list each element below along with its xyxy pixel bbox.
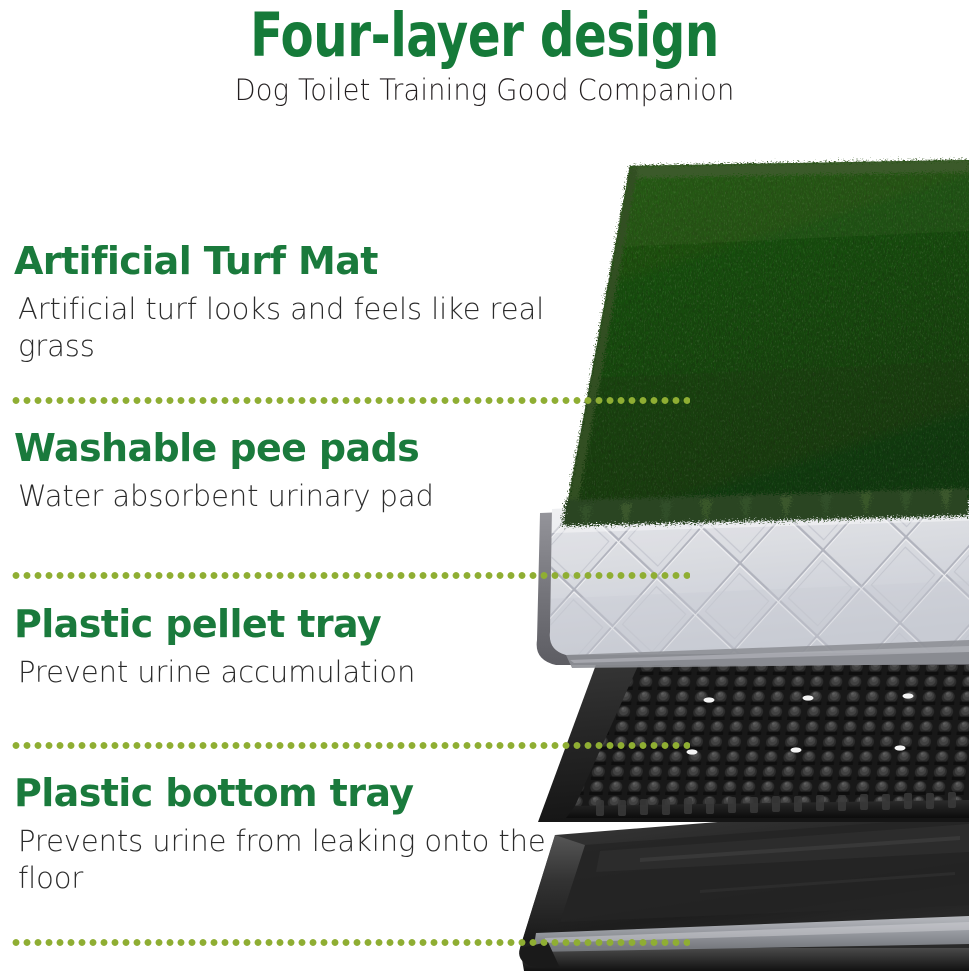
pellet-tray-layer <box>516 640 969 822</box>
section-body: Prevents urine from leaking onto the flo… <box>0 816 560 897</box>
divider-1 <box>12 396 690 405</box>
section-plastic-pellet-tray: Plastic pellet tray Prevent urine accumu… <box>0 601 560 691</box>
page-subtitle: Dog Toilet Training Good Companion <box>29 70 940 107</box>
turf-layer <box>550 144 969 530</box>
section-artificial-turf-mat: Artificial Turf Mat Artificial turf look… <box>0 238 560 365</box>
section-heading: Washable pee pads <box>0 425 560 471</box>
divider-4 <box>12 938 690 947</box>
header: Four-layer design Dog Toilet Training Go… <box>0 0 969 122</box>
divider-3 <box>12 741 690 750</box>
section-washable-pee-pads: Washable pee pads Water absorbent urinar… <box>0 425 560 515</box>
divider-2 <box>12 571 690 580</box>
section-body: Artificial turf looks and feels like rea… <box>0 284 560 365</box>
section-plastic-bottom-tray: Plastic bottom tray Prevents urine from … <box>0 770 560 897</box>
section-heading: Plastic bottom tray <box>0 770 560 816</box>
section-body: Water absorbent urinary pad <box>0 471 560 515</box>
section-heading: Plastic pellet tray <box>0 601 560 647</box>
section-body: Prevent urine accumulation <box>0 647 560 691</box>
section-heading: Artificial Turf Mat <box>0 238 560 284</box>
page-title: Four-layer design <box>58 0 911 70</box>
